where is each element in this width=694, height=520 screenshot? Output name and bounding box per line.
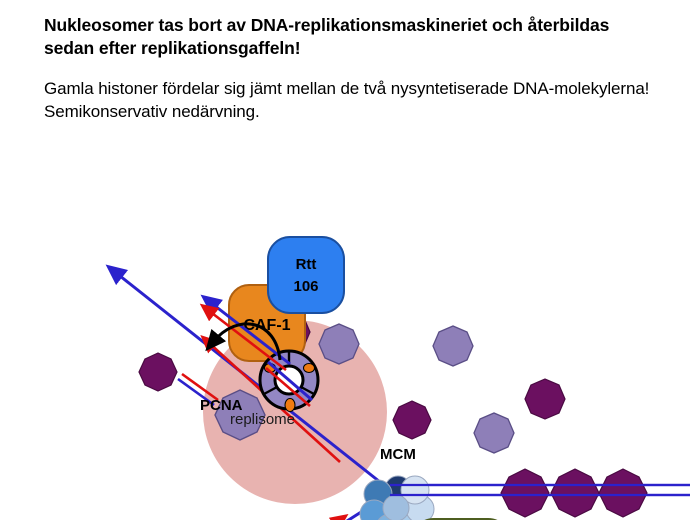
pcna-ring-upper[interactable] — [260, 351, 318, 412]
body-paragraph: Gamla histoner fördelar sig jämt mellan … — [44, 77, 664, 124]
replisome-label: replisome — [230, 411, 295, 428]
rtt106-top[interactable]: Rtt 106 — [268, 237, 344, 313]
mcm-complex — [360, 476, 434, 520]
mcm-label: MCM — [380, 446, 416, 463]
parental-nucleosome-3 — [599, 469, 647, 517]
free-nucleosome — [319, 324, 359, 364]
page-title: Nukleosomer tas bort av DNA-replikations… — [44, 14, 664, 60]
rtt106-top-label-line1: Rtt — [296, 256, 317, 273]
free-nucleosome — [393, 401, 431, 439]
free-nucleosome — [474, 413, 514, 453]
parental-nucleosome-2 — [551, 469, 599, 517]
slide-canvas: Nukleosomer tas bort av DNA-replikations… — [0, 0, 694, 520]
free-nucleosome — [525, 379, 565, 419]
parental-nucleosome-1 — [501, 469, 549, 517]
lower-daughter-dna — [100, 500, 380, 520]
free-nucleosome — [433, 326, 473, 366]
upper-strand-nucleosome-old — [139, 353, 177, 391]
replication-fork-diagram: FACT Asf1 CAF-1 Rtt 106 CAF-1 — [90, 152, 690, 520]
pcna-dot — [285, 399, 295, 412]
rtt106-top-label-line2: 106 — [293, 278, 318, 295]
pcna-dot — [304, 364, 315, 373]
